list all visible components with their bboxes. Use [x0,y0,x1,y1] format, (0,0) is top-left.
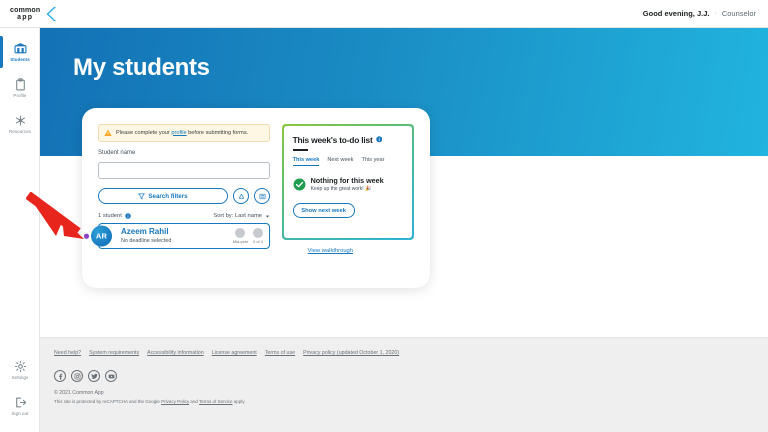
todo-tabs: This week Next week This year [293,157,404,166]
todo-empty-state: Nothing for this week Keep up the great … [293,177,404,192]
footer-links: Need help? System requirements Accessibi… [54,350,399,356]
student-count-label: 1 student [98,213,122,219]
student-name: Azeem Rahil [121,228,171,237]
badge-circle [253,228,263,238]
filter-controls-row: Search filters [98,188,270,204]
funnel-icon [138,193,145,200]
alert-text: Please complete your profile before subm… [116,130,248,137]
export-button[interactable] [233,188,249,204]
students-card: Please complete your profile before subm… [82,108,430,288]
user-role: Counselor [722,9,756,18]
info-icon[interactable] [125,213,131,219]
show-next-week-button[interactable]: Show next week [293,203,355,218]
footer-legal: This site is protected by reCAPTCHA and … [54,399,245,404]
student-badges: Mid-year 0 of 3 [233,228,263,244]
twitter-glyph-icon [91,373,98,380]
badge-mid-year[interactable]: Mid-year [233,228,248,244]
footer-link-need-help[interactable]: Need help? [54,350,81,356]
footer-social-links [54,370,117,382]
logo-line-2: app [10,14,40,21]
todo-status-subtitle: Keep up the great work! 🎉 [311,186,384,192]
twitter-icon[interactable] [88,370,100,382]
footer-link-license-agreement[interactable]: License agreement [212,350,257,356]
gear-icon [14,360,27,373]
title-underline-rule [293,149,308,151]
profile-link[interactable]: profile [171,130,186,136]
footer-link-accessibility-information[interactable]: Accessibility information [147,350,204,356]
tab-this-week[interactable]: This week [293,157,320,166]
export-icon [238,193,245,200]
logo-wordmark: common app [10,7,40,21]
tab-this-year[interactable]: This year [361,157,384,166]
badge-label: 0 of 3 [253,239,263,244]
profile-alert-banner: Please complete your profile before subm… [98,124,270,142]
students-search-column: Please complete your profile before subm… [98,124,270,249]
warning-triangle-icon [104,129,112,137]
instagram-glyph-icon [74,373,81,380]
facebook-glyph-icon [57,373,64,380]
sort-control[interactable]: Sort by: Last name [213,213,270,219]
sidebar-item-profile[interactable]: Profile [0,70,40,106]
alert-text-before: Please complete your [116,130,171,136]
student-deadline: No deadline selected [121,238,171,244]
sidebar-item-settings[interactable]: Settings [0,352,40,388]
facebook-icon[interactable] [54,370,66,382]
student-count: 1 student [98,213,131,219]
alert-text-after: before submitting forms. [187,130,249,136]
sidebar-item-profile-label: Profile [13,93,26,98]
students-icon [14,42,27,55]
badge-circle [235,228,245,238]
sidebar-item-resources[interactable]: Resources [0,106,40,142]
sidebar-item-settings-label: Settings [12,375,29,380]
search-filters-button[interactable]: Search filters [98,188,228,204]
badge-label: Mid-year [233,239,248,244]
todo-status-text: Nothing for this week Keep up the great … [311,177,384,192]
resources-icon [14,114,27,127]
greeting-text: Good evening, J.J. [643,9,710,18]
common-app-logo[interactable]: common app [10,6,59,22]
check-circle-icon [293,178,306,191]
footer-link-terms-of-use[interactable]: Terms of use [265,350,295,356]
legal-terms-of-service-link[interactable]: Terms of Service [199,399,233,404]
legal-text-after: apply. [233,399,246,404]
todo-panel-inner: This week's to-do list This week Next we… [284,126,413,239]
student-row[interactable]: AR Azeem Rahil No deadline selected Mid-… [98,223,270,249]
common-app-chevron-icon [43,6,59,22]
list-meta-row: 1 student Sort by: Last name [98,213,270,219]
youtube-icon[interactable] [105,370,117,382]
todo-title: This week's to-do list [293,135,373,145]
student-info: Azeem Rahil No deadline selected [121,228,171,244]
todo-title-row: This week's to-do list [293,135,404,145]
student-name-input[interactable] [98,162,270,179]
list-view-button[interactable] [254,188,270,204]
chevron-down-icon [265,214,270,219]
legal-privacy-policy-link[interactable]: Privacy Policy [161,399,189,404]
sign-out-icon [14,396,27,409]
page-title: My students [73,54,210,82]
legal-text-mid: and [189,399,199,404]
youtube-glyph-icon [108,373,115,380]
search-filters-label: Search filters [148,193,187,200]
tab-next-week[interactable]: Next week [327,157,353,166]
sidebar-item-students[interactable]: Students [0,34,40,70]
sort-label: Sort by: Last name [213,213,262,219]
logo-line-1: common [10,7,40,14]
clipboard-icon [14,78,27,91]
sidebar-item-sign-out-label: Sign out [12,411,29,416]
todo-panel: This week's to-do list This week Next we… [282,124,414,240]
student-name-label: Student name [98,150,270,156]
app-root: common app Good evening, J.J. · Counselo… [0,0,768,432]
top-bar: common app Good evening, J.J. · Counselo… [0,0,768,28]
sidebar-item-sign-out[interactable]: Sign out [0,388,40,424]
footer-link-privacy-policy[interactable]: Privacy policy (updated October 1, 2020) [303,350,399,356]
left-sidebar: Students Profile Resources [0,28,40,432]
sidebar-item-students-label: Students [10,57,30,62]
footer-link-system-requirements[interactable]: System requirements [89,350,139,356]
greeting-separator: · [714,10,716,17]
unread-indicator-dot [84,234,89,239]
footer: Need help? System requirements Accessibi… [40,337,768,432]
avatar: AR [91,226,112,247]
info-icon[interactable] [376,136,383,143]
badge-forms-progress[interactable]: 0 of 3 [253,228,263,244]
todo-status-title: Nothing for this week [311,177,384,185]
sidebar-item-resources-label: Resources [9,129,31,134]
user-greeting: Good evening, J.J. · Counselor [643,9,756,18]
list-view-icon [259,193,266,200]
footer-copyright: © 2021 Common App [54,390,104,396]
instagram-icon[interactable] [71,370,83,382]
view-walkthrough-link[interactable]: View walkthrough [308,248,353,254]
legal-text-before: This site is protected by reCAPTCHA and … [54,399,161,404]
